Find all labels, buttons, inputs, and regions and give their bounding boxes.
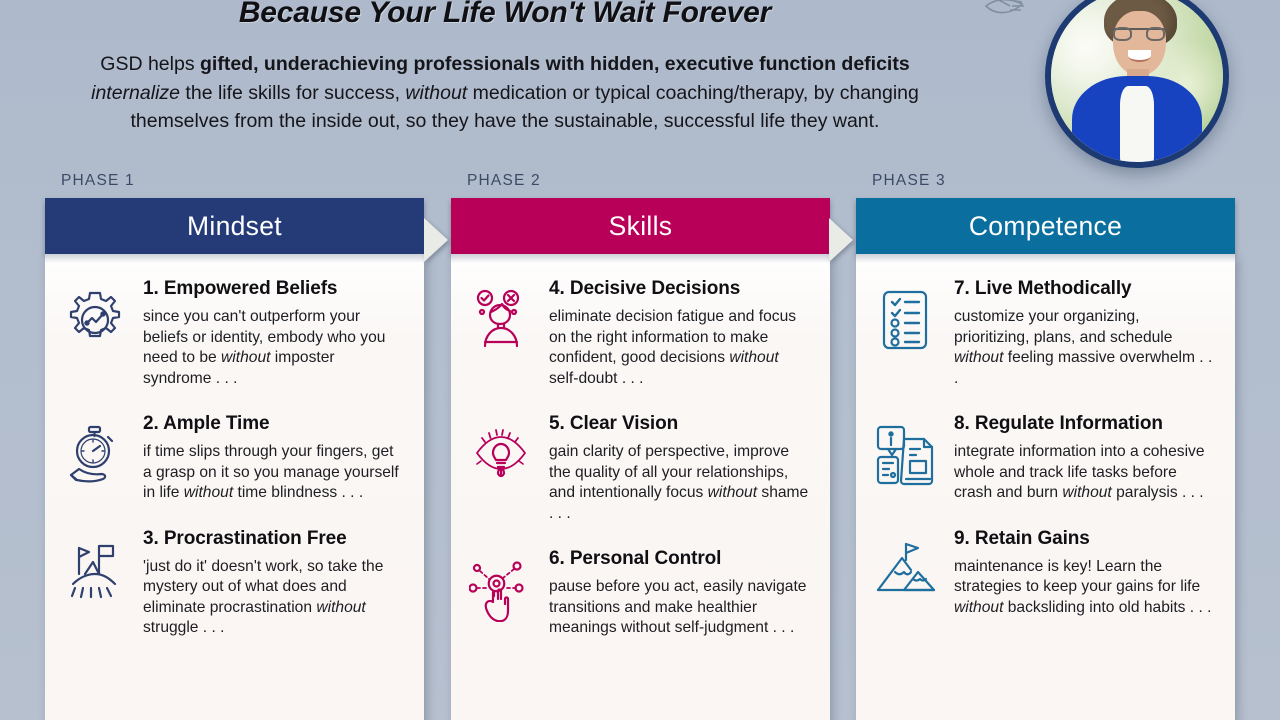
portrait-lens-right <box>1146 27 1165 41</box>
item-title: 8. Regulate Information <box>954 413 1215 435</box>
gear-chart-icon <box>59 278 131 389</box>
item-body: 'just do it' doesn't work, so take the m… <box>143 557 404 639</box>
item-title: 2. Ample Time <box>143 413 404 435</box>
page-headline: Because Your Life Won't Wait Forever <box>0 0 1010 30</box>
item-title: 7. Live Methodically <box>954 278 1215 300</box>
item-body: integrate information into a cohesive wh… <box>954 442 1215 504</box>
document-info-icon <box>870 413 942 504</box>
item-body-emphasis: without <box>729 349 778 366</box>
portrait-lens-left <box>1113 27 1132 41</box>
item-body-emphasis: without <box>316 599 365 616</box>
list-item-text: 4. Decisive Decisions eliminate decision… <box>549 278 814 389</box>
item-title: 4. Decisive Decisions <box>549 278 810 300</box>
stopwatch-hand-icon <box>59 413 131 504</box>
subcopy-bold: gifted, underachieving professionals wit… <box>200 53 910 75</box>
gsd-hand-logo-icon <box>952 0 1038 32</box>
mountain-flag-climber-icon <box>59 528 131 639</box>
item-body: maintenance is key! Learn the strategies… <box>954 557 1215 619</box>
list-item-text: 7. Live Methodically customize your orga… <box>954 278 1219 389</box>
phase-arrow-2-to-3-icon <box>829 212 859 268</box>
phase-label-2: PHASE 2 <box>451 172 830 190</box>
subcopy-mid-b: medication or typical coaching/therapy, … <box>467 82 919 104</box>
list-item-text: 8. Regulate Information integrate inform… <box>954 413 1219 504</box>
person-check-cross-icon <box>465 278 537 389</box>
list-item-text: 6. Personal Control pause before you act… <box>549 548 814 639</box>
item-title: 6. Personal Control <box>549 548 810 570</box>
list-item-text: 3. Procrastination Free 'just do it' doe… <box>143 528 408 639</box>
list-item-text: 9. Retain Gains maintenance is key! Lear… <box>954 528 1219 619</box>
subcopy-line-3: themselves from the inside out, so they … <box>0 107 1010 136</box>
phase-column-3: PHASE 3 Competence <box>856 172 1235 720</box>
list-item[interactable]: 5. Clear Vision gain clarity of perspect… <box>459 413 814 524</box>
phase-title-band-2[interactable]: Skills <box>451 198 830 254</box>
list-item[interactable]: 2. Ample Time if time slips through your… <box>53 413 408 504</box>
item-body-pre: pause before you act, easily navigate tr… <box>549 578 806 636</box>
item-body-emphasis: without <box>708 484 757 501</box>
phase-title-band-1[interactable]: Mindset <box>45 198 424 254</box>
list-item-text: 5. Clear Vision gain clarity of perspect… <box>549 413 814 524</box>
phase-column-1: PHASE 1 Mindset 1. Empowered Beliefs sin… <box>45 172 424 720</box>
item-body-emphasis: without <box>1062 484 1111 501</box>
subcopy-pre: GSD helps <box>100 53 200 75</box>
header-section: Because Your Life Won't Wait Forever GSD… <box>0 0 1280 160</box>
phase-column-2: PHASE 2 Skills <box>451 172 830 720</box>
item-body: if time slips through your fingers, get … <box>143 442 404 504</box>
phase-card-2: 4. Decisive Decisions eliminate decision… <box>451 254 830 720</box>
item-body-post: self-doubt . . . <box>549 370 643 387</box>
phase-card-3: 7. Live Methodically customize your orga… <box>856 254 1235 720</box>
item-title: 1. Empowered Beliefs <box>143 278 404 300</box>
checklist-clipboard-icon <box>870 278 942 389</box>
list-item-text: 2. Ample Time if time slips through your… <box>143 413 408 504</box>
list-item[interactable]: 3. Procrastination Free 'just do it' doe… <box>53 528 408 639</box>
list-item[interactable]: 7. Live Methodically customize your orga… <box>864 278 1219 389</box>
list-item[interactable]: 9. Retain Gains maintenance is key! Lear… <box>864 528 1219 619</box>
item-body-emphasis: without <box>954 349 1003 366</box>
founder-portrait-avatar <box>1045 0 1229 168</box>
item-body: eliminate decision fatigue and focus on … <box>549 307 810 389</box>
item-body-emphasis: without <box>954 599 1003 616</box>
subcopy-mid-a: the life skills for success, <box>180 82 405 104</box>
item-title: 9. Retain Gains <box>954 528 1215 550</box>
item-body: pause before you act, easily navigate tr… <box>549 577 810 639</box>
item-body-post: backsliding into old habits . . . <box>1003 599 1211 616</box>
item-body-post: time blindness . . . <box>233 484 363 501</box>
item-body-pre: customize your organizing, prioritizing,… <box>954 308 1172 346</box>
subcopy-italic-without: without <box>405 82 467 104</box>
item-body-pre: maintenance is key! Learn the strategies… <box>954 558 1200 596</box>
phase-label-3: PHASE 3 <box>856 172 1235 190</box>
subcopy-italic-internalize: internalize <box>91 82 180 104</box>
list-item[interactable]: 8. Regulate Information integrate inform… <box>864 413 1219 504</box>
portrait-face <box>1113 11 1166 76</box>
mountain-summit-flag-icon <box>870 528 942 619</box>
list-item[interactable]: 1. Empowered Beliefs since you can't out… <box>53 278 408 389</box>
item-body-emphasis: without <box>221 349 270 366</box>
phase-arrow-1-to-2-icon <box>424 212 454 268</box>
subcopy-line-1: GSD helps gifted, underachieving profess… <box>0 50 1010 79</box>
item-body-post: paralysis . . . <box>1112 484 1204 501</box>
portrait-white-shirt <box>1120 86 1154 165</box>
subcopy-line-2: internalize the life skills for success,… <box>0 79 1010 108</box>
item-title: 5. Clear Vision <box>549 413 810 435</box>
item-body-post: struggle . . . <box>143 619 224 636</box>
item-body: customize your organizing, prioritizing,… <box>954 307 1215 389</box>
hand-network-icon <box>465 548 537 639</box>
page-subcopy: GSD helps gifted, underachieving profess… <box>0 50 1010 136</box>
item-body-emphasis: without <box>184 484 233 501</box>
lightbulb-eye-icon <box>465 413 537 524</box>
item-title: 3. Procrastination Free <box>143 528 404 550</box>
item-body: gain clarity of perspective, improve the… <box>549 442 810 524</box>
list-item-text: 1. Empowered Beliefs since you can't out… <box>143 278 408 389</box>
list-item[interactable]: 6. Personal Control pause before you act… <box>459 548 814 639</box>
phase-label-1: PHASE 1 <box>45 172 424 190</box>
phase-card-1: 1. Empowered Beliefs since you can't out… <box>45 254 424 720</box>
phase-title-band-3[interactable]: Competence <box>856 198 1235 254</box>
item-body: since you can't outperform your beliefs … <box>143 307 404 389</box>
list-item[interactable]: 4. Decisive Decisions eliminate decision… <box>459 278 814 389</box>
